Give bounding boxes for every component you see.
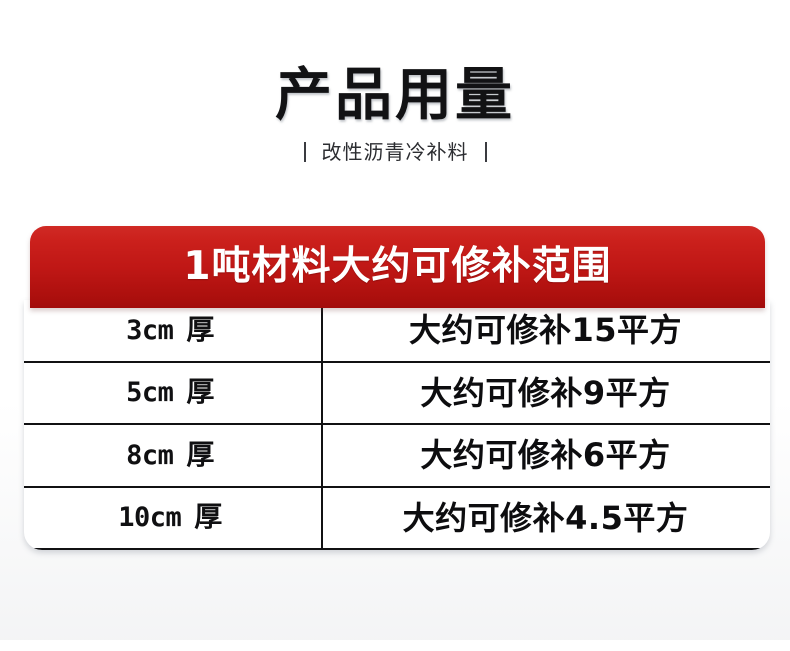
- table-row: 8cm厚 大约可修补6平方: [24, 425, 770, 488]
- table-cell-area: 大约可修补6平方: [321, 436, 770, 474]
- table-cell-thickness: 10cm厚: [24, 500, 321, 535]
- thickness-label: 5cm厚: [126, 375, 215, 408]
- thickness-value: 10cm: [118, 502, 181, 533]
- page-subtitle: 改性沥青冷补料: [322, 140, 469, 164]
- usage-table-card: 3cm厚 大约可修补15平方 5cm厚 大约可修补9平方: [24, 300, 770, 550]
- thickness-label: 8cm厚: [126, 438, 215, 471]
- thickness-label: 10cm厚: [118, 500, 223, 533]
- table-row: 3cm厚 大约可修补15平方: [24, 300, 770, 363]
- table-cell-area: 大约可修补9平方: [321, 374, 770, 412]
- thickness-word: 厚: [194, 500, 223, 533]
- table-header-banner-label: 1吨材料大约可修补范围: [183, 245, 611, 289]
- table-cell-area: 大约可修补4.5平方: [321, 499, 770, 537]
- table-column-divider: [321, 300, 323, 550]
- thickness-value: 8cm: [126, 440, 173, 471]
- table-row: 10cm厚 大约可修补4.5平方: [24, 488, 770, 551]
- usage-table: 3cm厚 大约可修补15平方 5cm厚 大约可修补9平方: [24, 300, 770, 550]
- thickness-word: 厚: [186, 313, 215, 346]
- header-block: 产品用量 改性沥青冷补料: [0, 62, 790, 164]
- product-usage-infographic: 产品用量 改性沥青冷补料 1吨材料大约可修补范围 3cm厚 大约可修补15平方: [0, 0, 790, 651]
- table-header-banner: 1吨材料大约可修补范围: [30, 226, 765, 308]
- area-label: 大约可修补4.5平方: [403, 499, 689, 537]
- table-row: 5cm厚 大约可修补9平方: [24, 363, 770, 426]
- page-title: 产品用量: [0, 62, 790, 128]
- thickness-label: 3cm厚: [126, 313, 215, 346]
- thickness-value: 3cm: [126, 315, 173, 346]
- subtitle-right-bar-icon: [485, 142, 487, 162]
- subtitle-left-bar-icon: [304, 142, 306, 162]
- area-label: 大约可修补9平方: [420, 374, 670, 412]
- area-label: 大约可修补6平方: [420, 436, 670, 474]
- thickness-word: 厚: [186, 438, 215, 471]
- subtitle-row: 改性沥青冷补料: [0, 140, 790, 164]
- table-cell-thickness: 8cm厚: [24, 438, 321, 473]
- thickness-value: 5cm: [126, 377, 173, 408]
- table-cell-thickness: 5cm厚: [24, 375, 321, 410]
- area-label: 大约可修补15平方: [409, 311, 682, 349]
- table-cell-thickness: 3cm厚: [24, 313, 321, 348]
- table-cell-area: 大约可修补15平方: [321, 311, 770, 349]
- thickness-word: 厚: [186, 375, 215, 408]
